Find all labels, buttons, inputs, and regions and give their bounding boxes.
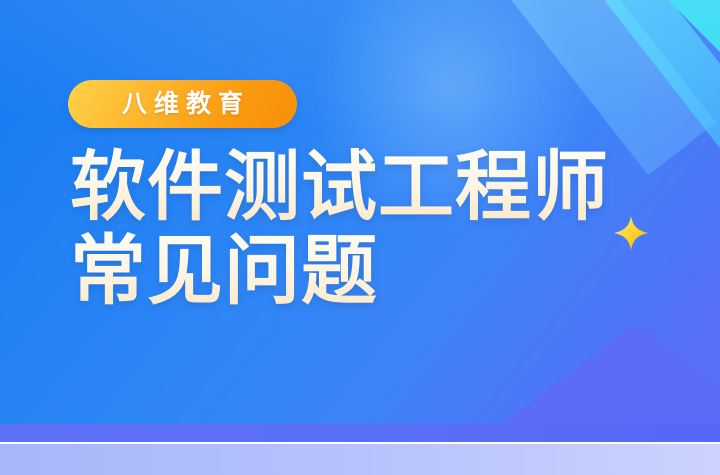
brand-badge: 八维教育 bbox=[68, 80, 297, 128]
sparkle-star-icon bbox=[612, 214, 650, 252]
promo-banner: 八维教育 软件测试工程师 常见问题 bbox=[0, 0, 720, 475]
banner-content: 八维教育 软件测试工程师 常见问题 bbox=[0, 0, 720, 475]
brand-badge-label: 八维教育 bbox=[115, 92, 250, 117]
title-line-secondary: 常见问题 bbox=[70, 230, 609, 314]
page-title: 软件测试工程师 常见问题 bbox=[70, 146, 609, 314]
title-line-primary: 软件测试工程师 bbox=[70, 146, 609, 230]
